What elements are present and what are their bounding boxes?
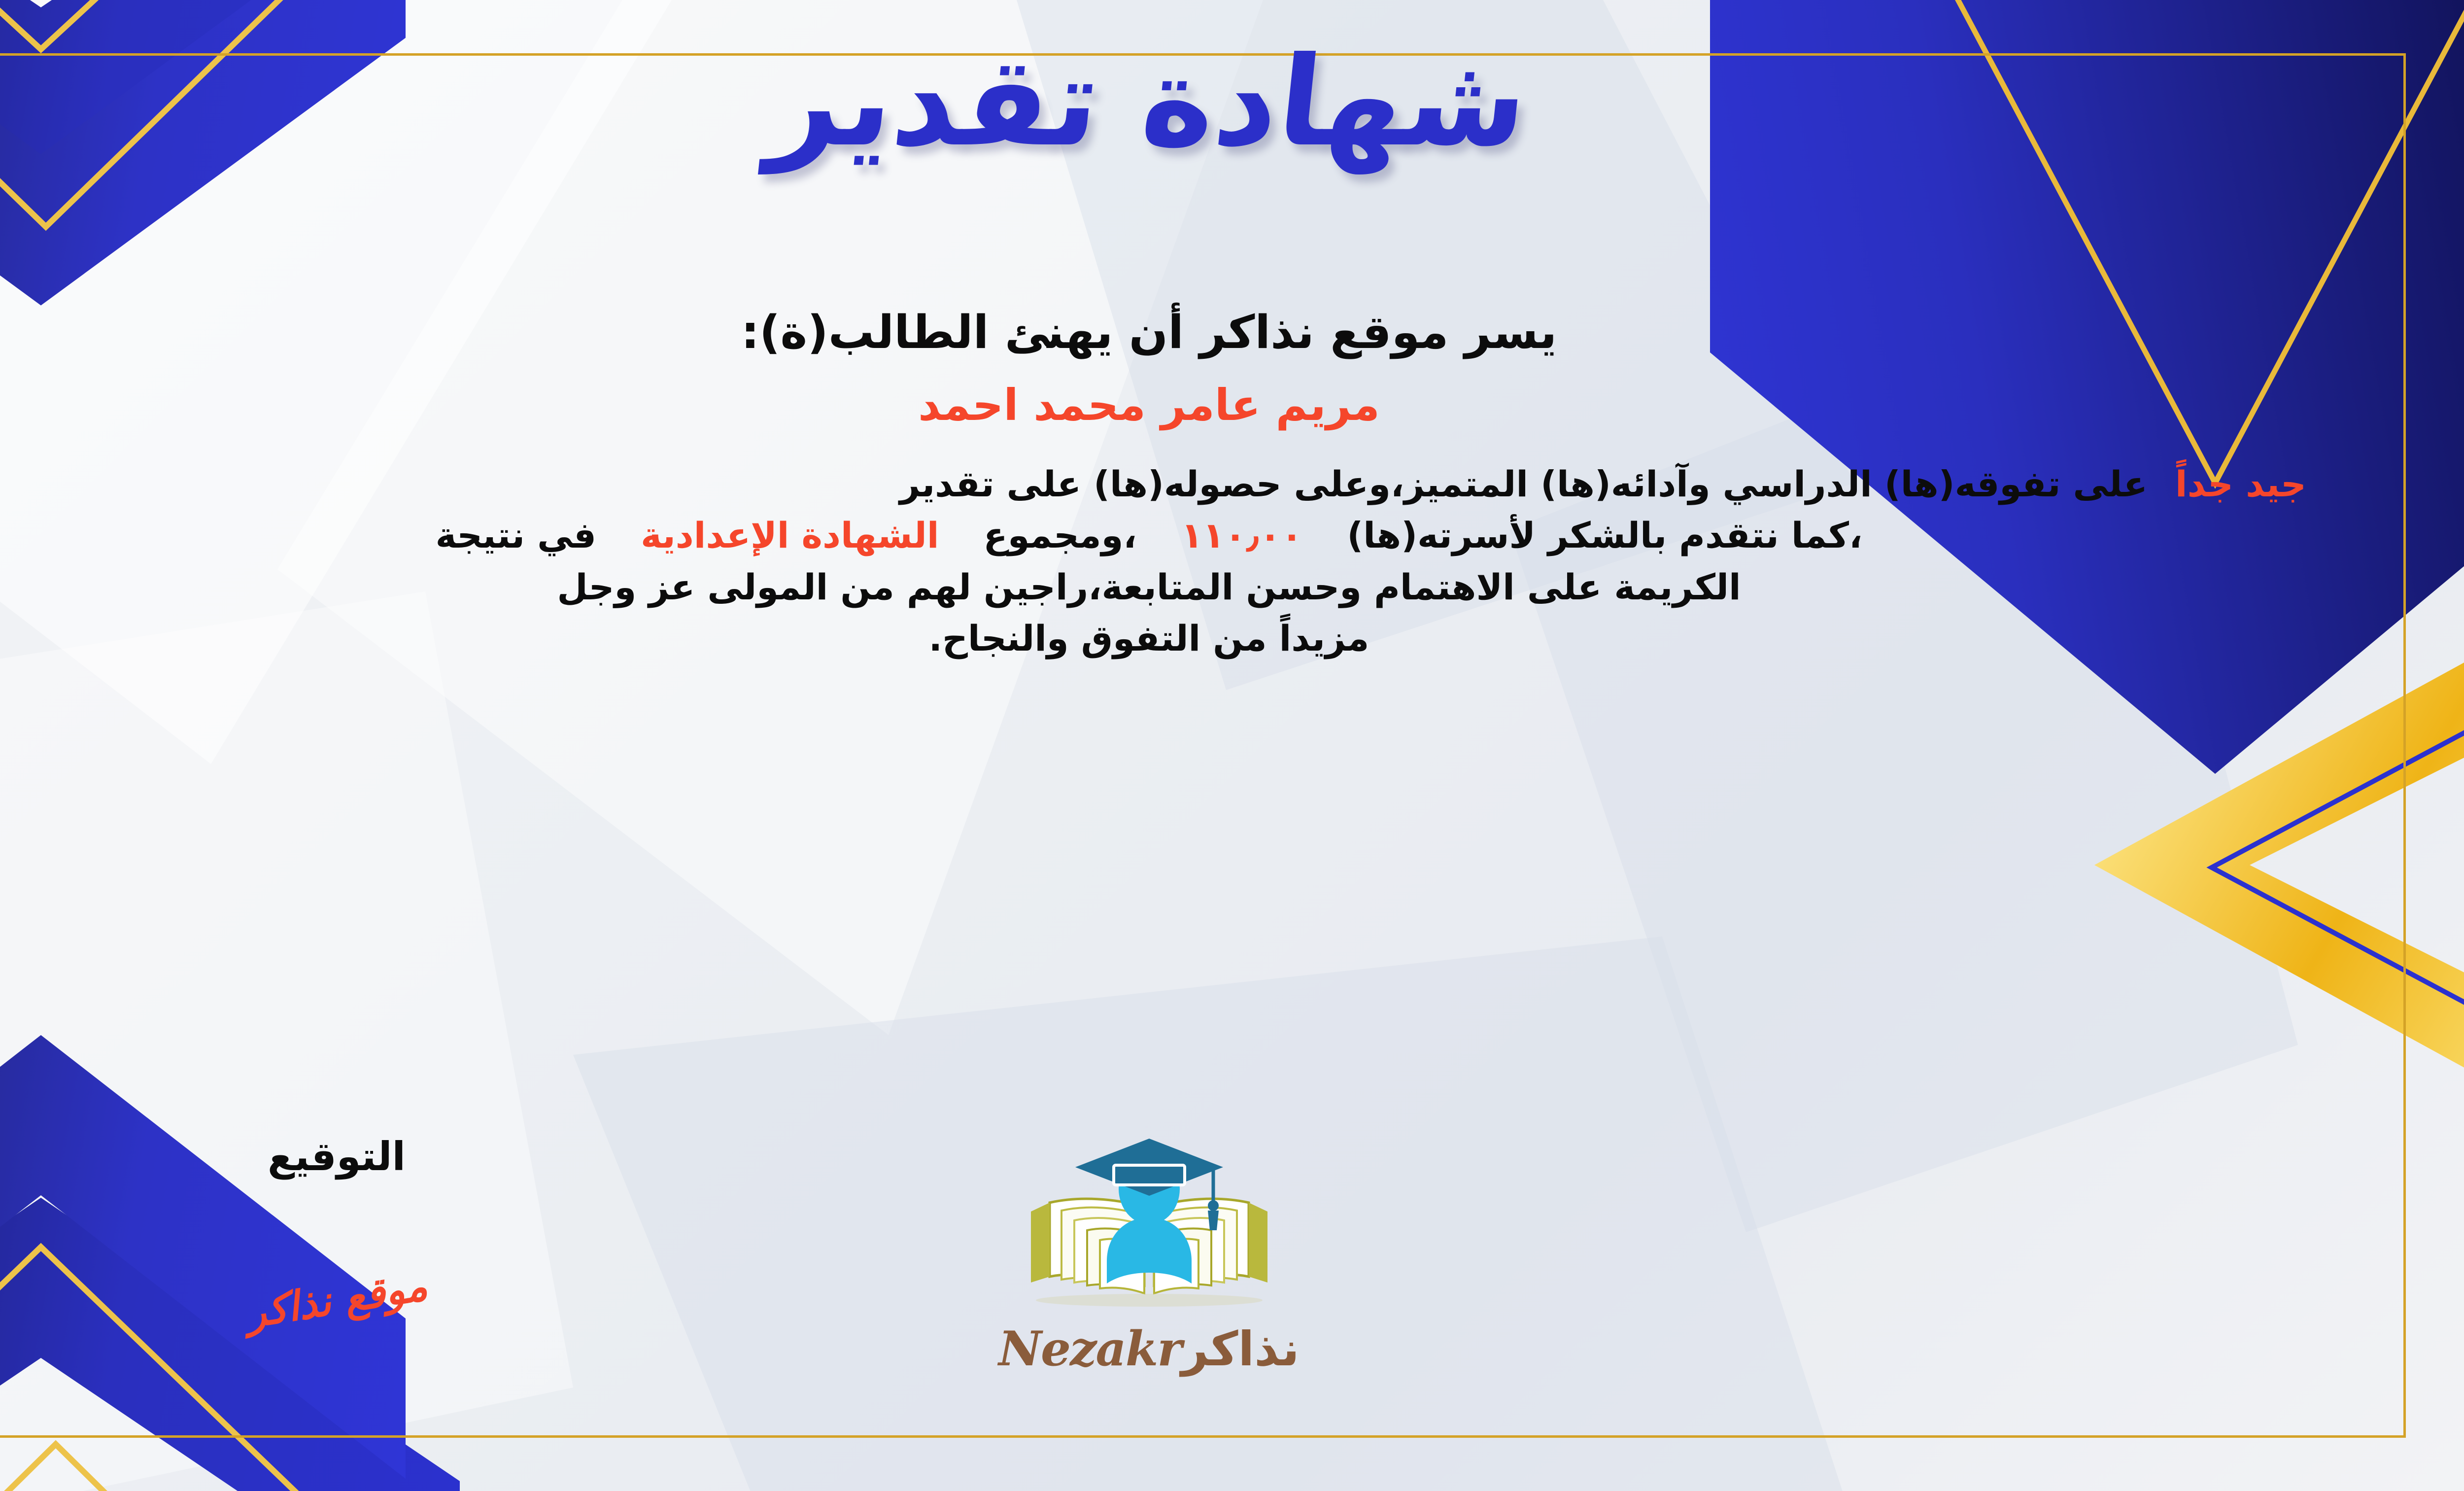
grade-value: جيد جداً — [2175, 463, 2306, 505]
certificate-title-block: شهادة تقدير — [0, 40, 2375, 198]
signature-label: التوقيع — [213, 1134, 460, 1179]
brand-name-arabic: نذاكر — [1181, 1321, 1300, 1377]
body-line-1-text: على تفوقه(ها) الدراسي وآدائه(ها) المتميز… — [899, 463, 2148, 505]
certificate-body: جيد جداًعلى تفوقه(ها) الدراسي وآدائه(ها)… — [0, 458, 2306, 664]
body-line-2-tail: ،كما نتقدم بالشكر لأسرته(ها) — [1347, 515, 1862, 556]
body-line-2-head: في نتيجة — [436, 515, 596, 556]
body-line-2: ،كما نتقدم بالشكر لأسرته(ها)١١٠٫٠٠،ومجمو… — [0, 510, 2306, 561]
body-line-3: الكريمة على الاهتمام وحسن المتابعة،راجين… — [0, 561, 2306, 613]
brand-name: نذاكرNezakr — [962, 1321, 1336, 1377]
body-line-4: مزيداً من التفوق والنجاح. — [0, 613, 2306, 664]
signature-handwriting: موقع نذاكر — [197, 1255, 477, 1345]
student-name: مريم عامر محمد احمد — [0, 380, 2375, 430]
certificate-canvas: شهادة تقدير يسر موقع نذاكر أن يهنئ الطال… — [0, 0, 2464, 1491]
exam-name: الشهادة الإعدادية — [641, 515, 939, 556]
body-line-2-mid: ،ومجموع — [984, 515, 1137, 556]
brand-name-latin: Nezakr — [998, 1321, 1181, 1377]
greeting-text: يسر موقع نذاكر أن يهنئ الطالب(ة): — [0, 306, 2375, 359]
certificate-content: شهادة تقدير يسر موقع نذاكر أن يهنئ الطال… — [0, 0, 2375, 1491]
score-value: ١١٠٫٠٠ — [1181, 515, 1303, 556]
brand-logo: نذاكرNezakr — [962, 1129, 1336, 1377]
body-line-1: جيد جداًعلى تفوقه(ها) الدراسي وآدائه(ها)… — [0, 458, 2306, 510]
graduate-book-icon — [996, 1129, 1302, 1326]
page-title: شهادة تقدير — [0, 40, 2382, 164]
